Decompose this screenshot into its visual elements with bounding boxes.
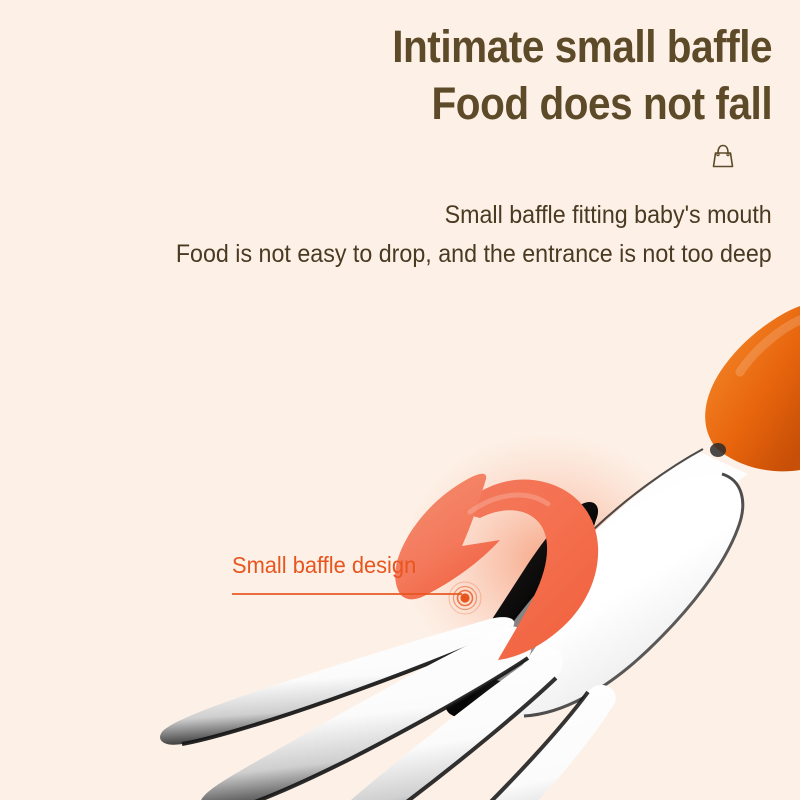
subtext-line-1: Small baffle fitting baby's mouth [176, 196, 772, 235]
handbag-icon-row [350, 142, 736, 172]
annotation-group: Small baffle design [232, 552, 492, 579]
headline-line-1: Intimate small baffle [392, 18, 772, 75]
handbag-icon [710, 142, 736, 170]
headline-group: Intimate small baffle Food does not fall [350, 18, 772, 172]
product-marketing-banner: Intimate small baffle Food does not fall… [0, 0, 800, 800]
subtext-line-2: Food is not easy to drop, and the entran… [176, 235, 772, 274]
target-dot-marker [448, 581, 482, 615]
annotation-leader-line [232, 593, 462, 595]
headline-line-2: Food does not fall [392, 75, 772, 132]
annotation-label: Small baffle design [232, 552, 479, 579]
subtext-group: Small baffle fitting baby's mouth Food i… [131, 196, 772, 274]
